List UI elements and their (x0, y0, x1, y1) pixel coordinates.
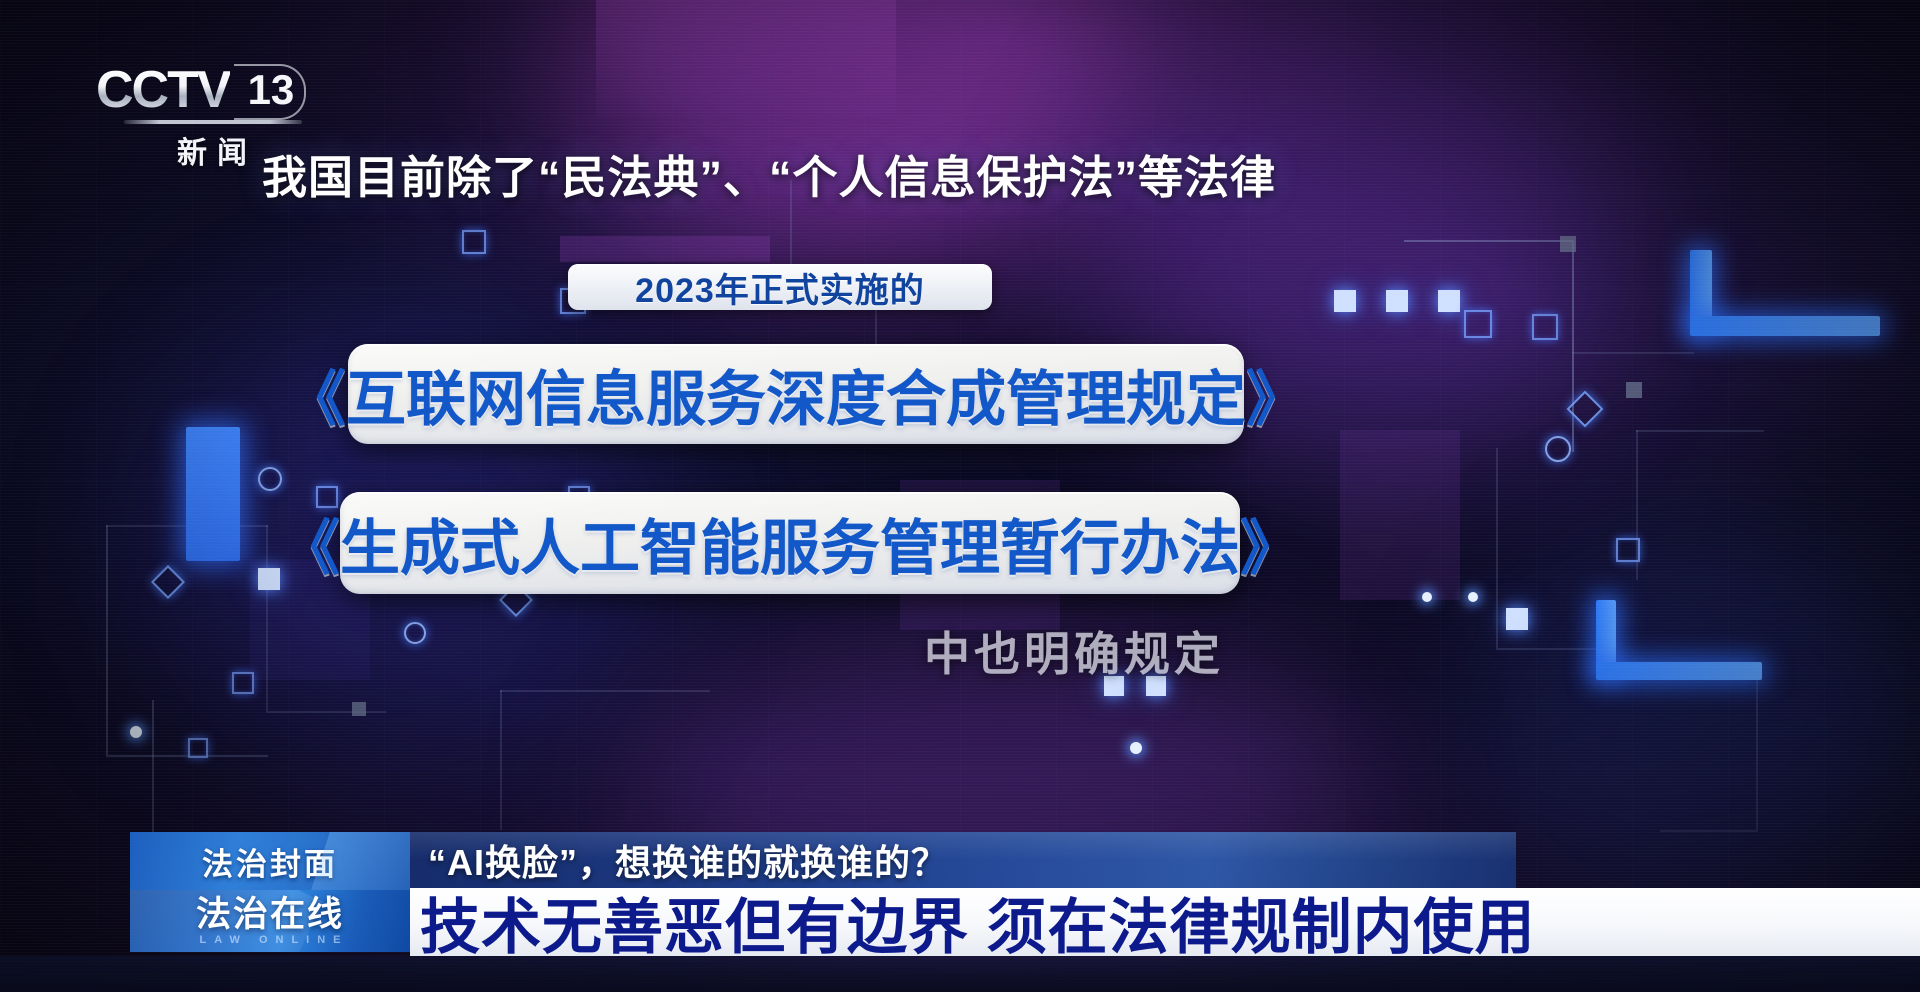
program-name-badge: 法治在线 LAW ONLINE (130, 890, 410, 952)
glow-dot-1 (1130, 742, 1142, 754)
glow-square-outline-9 (1616, 538, 1640, 562)
program-name-en: LAW ONLINE (191, 935, 348, 946)
law-card-first: 《互联网信息服务深度合成管理规定》 (348, 344, 1244, 444)
glow-bar-left (186, 427, 240, 561)
center-footnote-text: 中也明确规定 (924, 618, 1224, 684)
glow-circle-left (258, 467, 282, 491)
program-identity-block: 法治封面 法治在线 LAW ONLINE (130, 832, 410, 952)
glow-square-outline-1 (1464, 310, 1492, 338)
glow-square-bottom-center (1506, 608, 1528, 630)
circuit-node-2 (1626, 382, 1642, 398)
lower-third: 法治封面 法治在线 LAW ONLINE “AI换脸”，想换谁的就换谁的？ 技术… (0, 832, 1920, 992)
circuit-node-1 (1560, 236, 1576, 252)
program-segment-badge: 法治封面 (130, 832, 410, 890)
law-card-second: 《生成式人工智能服务管理暂行办法》 (340, 492, 1240, 594)
main-title-text: 技术无善恶但有边界 须在法律规制内使用 (420, 879, 1536, 966)
glow-square-mid-left (258, 568, 280, 590)
channel-logo-subtitle: 新闻 (152, 128, 272, 172)
glow-dot-3 (1422, 592, 1432, 602)
glow-square-outline-2 (1532, 314, 1558, 340)
bottom-strip (0, 956, 1920, 992)
top-headline-text: 我国目前除了“民法典”、“个人信息保护法”等法律 (262, 141, 1276, 206)
channel-logo-underline (124, 120, 302, 124)
glow-square-outline-3 (462, 230, 486, 254)
channel-logo-row: CCTV 13 (96, 62, 312, 118)
channel-logo-text: CCTV (96, 64, 230, 116)
year-badge-label: 2023年正式实施的 (635, 263, 925, 312)
glow-circle-right (1545, 436, 1571, 462)
broadcast-frame: CCTV 13 新闻 我国目前除了“民法典”、“个人信息保护法”等法律 2023… (0, 0, 1920, 992)
program-name-cn: 法治在线 (196, 897, 344, 932)
glow-square-outline-8 (188, 738, 208, 758)
law-card-first-label: 《互联网信息服务深度合成管理规定》 (286, 351, 1306, 438)
channel-logo-number: 13 (248, 69, 295, 111)
glow-dot-4 (1468, 592, 1478, 602)
law-card-second-label: 《生成式人工智能服务管理暂行办法》 (280, 500, 1300, 587)
glow-square-outline-7 (232, 672, 254, 694)
main-title-bar: 技术无善恶但有边界 须在法律规制内使用 (410, 888, 1920, 956)
glow-square-top-2 (1386, 290, 1408, 312)
year-badge: 2023年正式实施的 (568, 264, 992, 310)
glow-square-top-1 (1334, 290, 1356, 312)
glow-dot-2 (130, 726, 142, 738)
circuit-node-3 (352, 702, 366, 716)
glow-circle-lower-right (404, 622, 426, 644)
program-segment-label: 法治封面 (202, 839, 338, 884)
glow-square-top-3 (1438, 290, 1460, 312)
channel-number-badge: 13 (234, 62, 305, 118)
